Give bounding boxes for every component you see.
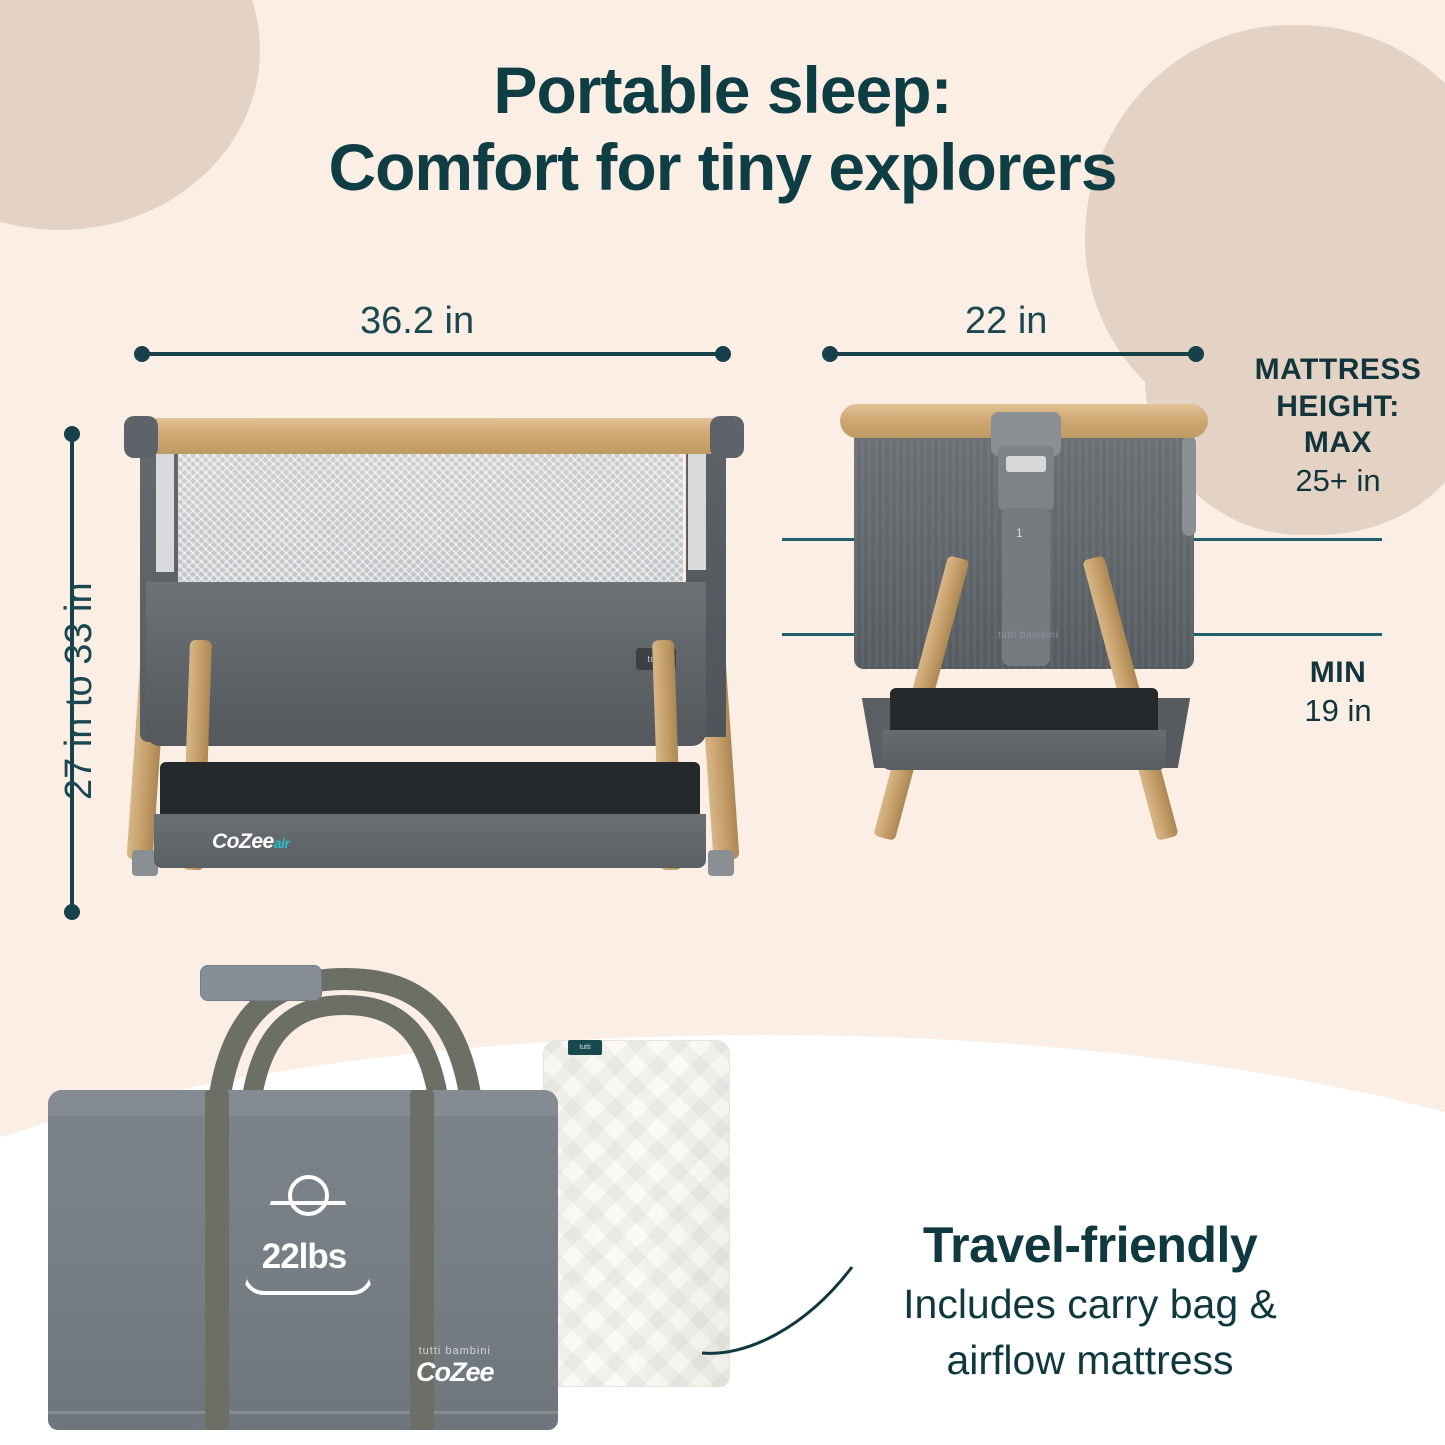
page-title: Portable sleep: Comfort for tiny explore… bbox=[0, 52, 1445, 206]
mattress-height-min-block: MIN 19 in bbox=[1238, 655, 1438, 730]
crib-front-fabric-band bbox=[146, 582, 706, 746]
crib-rail-cap-right bbox=[710, 416, 744, 458]
carry-bag-brand-main: CoZee bbox=[416, 1357, 494, 1388]
carry-bag-handle-grip bbox=[200, 965, 322, 1001]
crib-top-wood-rail bbox=[140, 418, 728, 454]
carry-bag-top-edge bbox=[48, 1090, 558, 1116]
depth-dimension-line bbox=[828, 352, 1198, 356]
mattress-min-label: MIN bbox=[1238, 655, 1438, 692]
end-view-brand-mark: tutti bambini bbox=[998, 630, 1058, 641]
carry-bag-branding: tutti bambini CoZee bbox=[416, 1345, 494, 1388]
height-adjust-column bbox=[1002, 508, 1050, 666]
crib-foot-right bbox=[708, 850, 734, 876]
mattress-title-line-1: MATTRESS bbox=[1238, 352, 1438, 389]
carry-bag-brand-small: tutti bambini bbox=[416, 1345, 494, 1357]
crib-end-view-illustration: 1 tutti bambini bbox=[830, 398, 1220, 920]
cozee-logo-text: CoZee bbox=[212, 830, 274, 853]
mattress-tag-label: tutti bbox=[568, 1040, 602, 1055]
travel-friendly-block: Travel-friendly Includes carry bag & air… bbox=[800, 1218, 1380, 1385]
mattress-title-line-2: HEIGHT: bbox=[1238, 389, 1438, 426]
cozee-logo-side-view: CoZeeair bbox=[212, 830, 289, 854]
mattress-height-max-block: MATTRESS HEIGHT: MAX 25+ in bbox=[1238, 352, 1438, 501]
crib-end-shelf-front bbox=[882, 730, 1166, 770]
weight-value-label: 22lbs bbox=[238, 1237, 370, 1277]
width-dimension-line bbox=[140, 352, 725, 356]
crib-storage-shelf: CoZeeair bbox=[160, 762, 700, 864]
carry-bag-bottom-seam bbox=[48, 1411, 558, 1414]
width-dimension-label: 36.2 in bbox=[360, 300, 474, 343]
cozee-logo-suffix: air bbox=[274, 835, 290, 851]
crib-side-view-illustration: tutti CoZeeair bbox=[118, 410, 748, 920]
carry-bag-strap-left bbox=[205, 1090, 229, 1430]
travel-friendly-line-2: airflow mattress bbox=[800, 1335, 1380, 1385]
crib-mesh-panel bbox=[178, 452, 683, 582]
weight-icon: 22lbs bbox=[238, 1175, 370, 1287]
mattress-brand-tag-icon: tutti bbox=[568, 1040, 602, 1055]
mattress-max-value: 25+ in bbox=[1238, 462, 1438, 501]
title-line-2: Comfort for tiny explorers bbox=[0, 129, 1445, 206]
title-line-1: Portable sleep: bbox=[493, 53, 951, 127]
height-dimension-label: 27 in to 33 in bbox=[58, 582, 101, 800]
height-adjust-slot bbox=[1006, 456, 1046, 472]
travel-friendly-line-1: Includes carry bag & bbox=[800, 1279, 1380, 1329]
crib-rail-cap-left bbox=[124, 416, 158, 458]
mattress-min-value: 19 in bbox=[1238, 692, 1438, 731]
crib-shelf-front-panel: CoZeeair bbox=[154, 814, 706, 868]
infographic-canvas: Portable sleep: Comfort for tiny explore… bbox=[0, 0, 1445, 1445]
depth-dimension-label: 22 in bbox=[965, 300, 1047, 343]
mechanism-number-label: 1 bbox=[1016, 526, 1023, 540]
crib-mesh-strap-left bbox=[156, 452, 174, 572]
travel-friendly-title: Travel-friendly bbox=[800, 1218, 1380, 1273]
mattress-max-label: MAX bbox=[1238, 425, 1438, 462]
crib-end-zipper bbox=[1182, 436, 1196, 536]
crib-mesh-strap-right bbox=[688, 452, 706, 570]
